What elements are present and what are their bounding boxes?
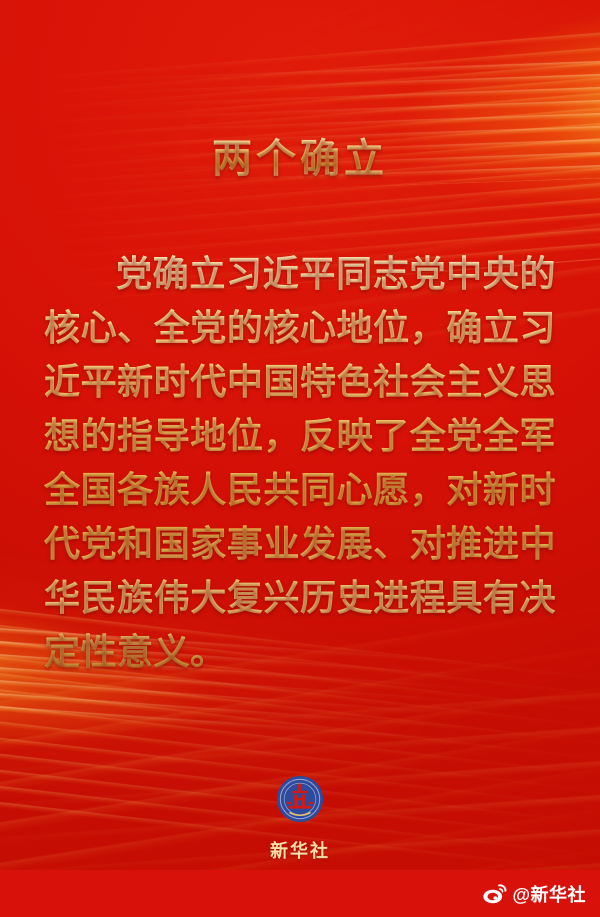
poster-body-text: 党确立习近平同志党中央的核心、全党的核心地位，确立习近平新时代中国特色社会主义思… (44, 247, 556, 679)
poster-canvas: 两个确立 党确立习近平同志党中央的核心、全党的核心地位，确立习近平新时代中国特色… (0, 0, 600, 917)
brand-block: 新华社 (0, 775, 600, 863)
brand-name: 新华社 (270, 837, 330, 863)
weibo-icon (483, 883, 507, 904)
poster-content: 两个确立 党确立习近平同志党中央的核心、全党的核心地位，确立习近平新时代中国特色… (0, 0, 600, 917)
watermark-bar: @新华社 (0, 870, 600, 917)
watermark-handle: @新华社 (512, 881, 586, 907)
xinhua-emblem-icon (276, 775, 324, 823)
poster-title: 两个确立 (0, 135, 600, 183)
